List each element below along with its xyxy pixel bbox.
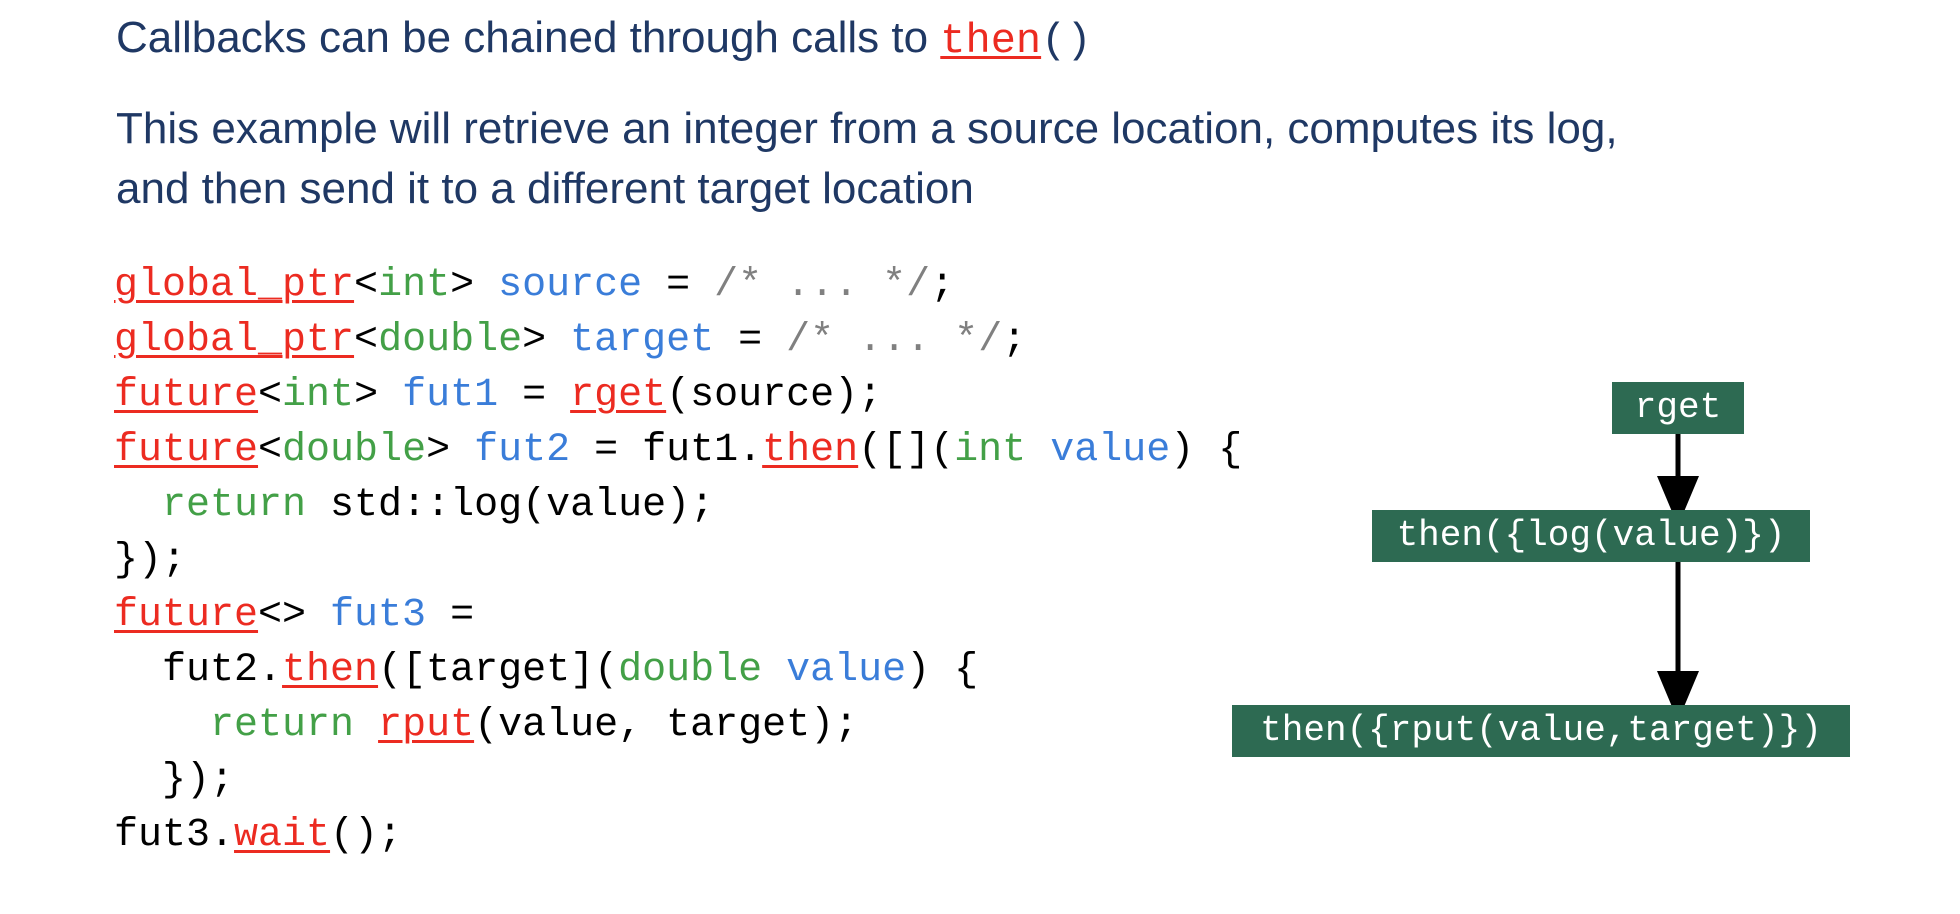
code-token-punct: > <box>522 318 570 363</box>
code-token-punct: ) { <box>1170 428 1242 473</box>
code-token-type: double <box>618 648 762 693</box>
code-token-punct: ; <box>930 263 954 308</box>
code-line: return std::log(value); <box>114 478 1242 533</box>
code-token-punct: > <box>354 373 402 418</box>
code-token-comment: /* ... */ <box>714 263 930 308</box>
code-token-punct: = <box>714 318 786 363</box>
code-token-punct: (value, target); <box>474 703 858 748</box>
code-token-type: double <box>282 428 426 473</box>
code-token-ret: return <box>210 703 354 748</box>
code-token-punct <box>114 703 210 748</box>
code-token-api: global_ptr <box>114 263 354 308</box>
code-token-api: wait <box>234 813 330 858</box>
code-token-comment: /* ... */ <box>786 318 1002 363</box>
code-line: global_ptr<double> target = /* ... */; <box>114 313 1242 368</box>
code-line: future<int> fut1 = rget(source); <box>114 368 1242 423</box>
code-token-punct: < <box>354 318 378 363</box>
code-token-type: int <box>378 263 450 308</box>
code-token-type: int <box>282 373 354 418</box>
code-token-punct: (source); <box>666 373 882 418</box>
title-text-part1: Callbacks can be chained through calls t… <box>116 13 940 62</box>
code-line: fut2.then([target](double value) { <box>114 643 1242 698</box>
code-token-punct <box>114 483 162 528</box>
code-token-punct: = fut1. <box>570 428 762 473</box>
diagram-node-rget: rget <box>1612 382 1744 434</box>
heading-spacer <box>116 71 1756 99</box>
code-token-punct <box>1026 428 1050 473</box>
code-token-var: source <box>498 263 642 308</box>
diagram-node-then-log: then({log(value)}) <box>1372 510 1810 562</box>
heading-block: Callbacks can be chained through calls t… <box>116 8 1756 219</box>
code-token-punct: }); <box>114 538 186 583</box>
code-line: }); <box>114 753 1242 808</box>
code-token-var: value <box>786 648 906 693</box>
code-line: return rput(value, target); <box>114 698 1242 753</box>
code-token-api: future <box>114 593 258 638</box>
code-token-api: then <box>282 648 378 693</box>
code-token-api: rget <box>570 373 666 418</box>
code-token-punct: fut3. <box>114 813 234 858</box>
code-token-punct: <> <box>258 593 330 638</box>
description-paragraph: This example will retrieve an integer fr… <box>116 99 1676 219</box>
code-token-ret: return <box>162 483 306 528</box>
code-token-punct: = <box>426 593 474 638</box>
diagram-node-then-rput: then({rput(value,target)}) <box>1232 705 1850 757</box>
code-token-api: future <box>114 428 258 473</box>
title-then-keyword: then <box>940 17 1041 65</box>
code-token-punct: = <box>498 373 570 418</box>
code-line: global_ptr<int> source = /* ... */; <box>114 258 1242 313</box>
page-title: Callbacks can be chained through calls t… <box>116 8 1756 71</box>
code-token-api: rput <box>378 703 474 748</box>
code-token-punct: }); <box>114 758 234 803</box>
code-token-api: then <box>762 428 858 473</box>
code-token-var: fut2 <box>474 428 570 473</box>
callback-chain-diagram: rget then({log(value)}) then({rput(value… <box>1240 370 1940 770</box>
code-token-punct: = <box>642 263 714 308</box>
code-token-punct: ([]( <box>858 428 954 473</box>
code-token-var: target <box>570 318 714 363</box>
code-token-punct <box>762 648 786 693</box>
code-line: }); <box>114 533 1242 588</box>
code-token-api: global_ptr <box>114 318 354 363</box>
code-token-type: double <box>378 318 522 363</box>
code-token-punct: (); <box>330 813 402 858</box>
code-token-punct: fut2. <box>114 648 282 693</box>
code-token-punct: > <box>426 428 474 473</box>
code-token-punct: std::log(value); <box>306 483 714 528</box>
code-token-punct: < <box>258 428 282 473</box>
title-parentheses: () <box>1041 17 1091 65</box>
code-token-punct: ) { <box>906 648 978 693</box>
code-token-type: int <box>954 428 1026 473</box>
code-token-var: fut3 <box>330 593 426 638</box>
code-token-api: future <box>114 373 258 418</box>
code-line: future<> fut3 = <box>114 588 1242 643</box>
code-token-var: value <box>1050 428 1170 473</box>
code-token-punct: < <box>354 263 378 308</box>
code-token-punct <box>354 703 378 748</box>
code-token-punct: > <box>450 263 498 308</box>
code-line: future<double> fut2 = fut1.then([](int v… <box>114 423 1242 478</box>
code-token-var: fut1 <box>402 373 498 418</box>
code-block: global_ptr<int> source = /* ... */;globa… <box>114 258 1242 863</box>
code-token-punct: ; <box>1002 318 1026 363</box>
code-token-punct: ([target]( <box>378 648 618 693</box>
code-token-punct: < <box>258 373 282 418</box>
code-line: fut3.wait(); <box>114 808 1242 863</box>
